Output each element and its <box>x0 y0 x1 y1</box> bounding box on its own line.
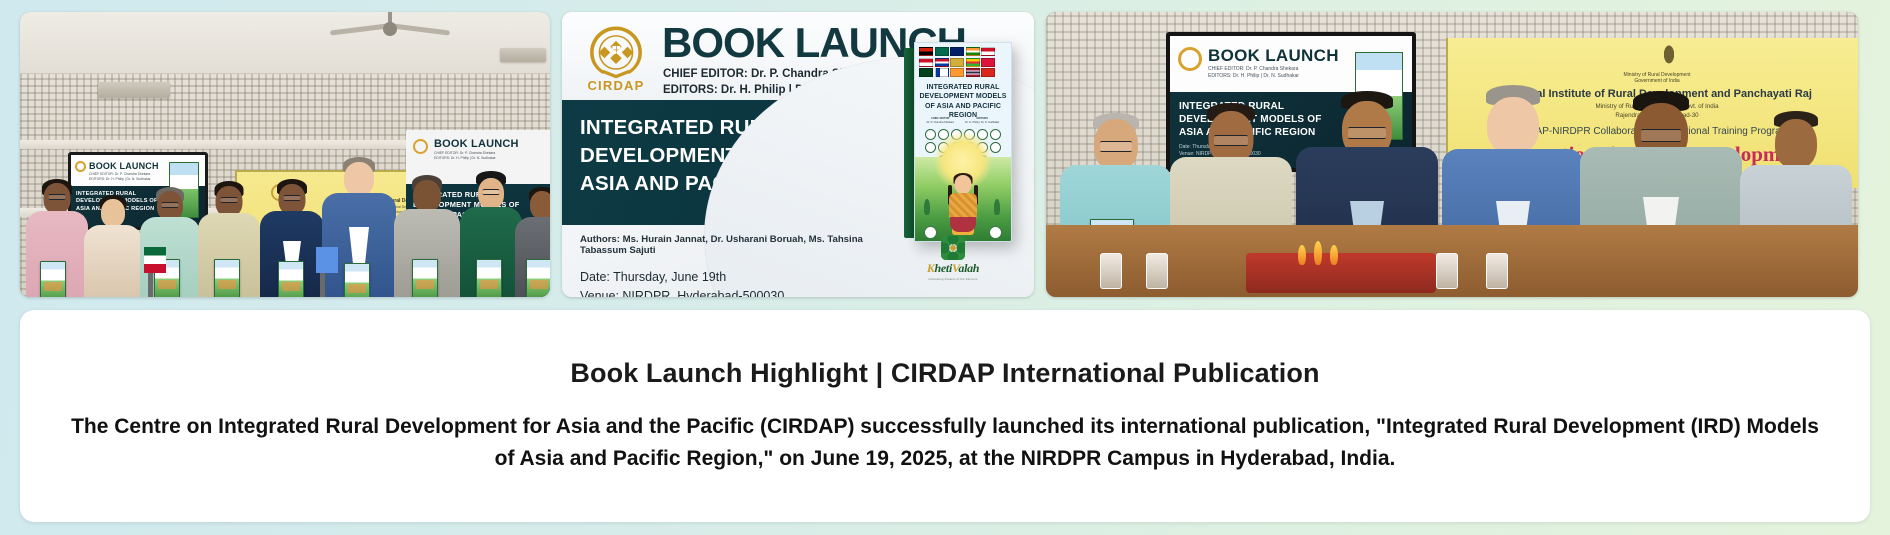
book-editors-name: Dr. H. Philip | Dr. N. Sudhakar <box>965 121 999 124</box>
ceremony-hall-background: BOOK LAUNCH CHIEF EDITOR: Dr. P. Chandra… <box>1046 12 1858 297</box>
cirdap-logo-icon: CIRDAP <box>580 22 652 94</box>
poster-authors: Authors: Ms. Hurain Jannat, Dr. Usharani… <box>580 234 910 256</box>
water-glass <box>1486 253 1508 289</box>
screen-heading: BOOK LAUNCH <box>1208 46 1339 66</box>
cirdap-badge-icon <box>413 139 428 154</box>
caption-body: The Centre on Integrated Rural Developme… <box>66 411 1824 475</box>
book-chief-editor-label: CHIEF EDITOR <box>931 117 949 120</box>
flag <box>144 247 166 273</box>
ceiling <box>20 12 550 74</box>
khetivalah-mark-icon <box>941 236 965 260</box>
attendee <box>24 177 90 297</box>
caption-panel: Book Launch Highlight | CIRDAP Internati… <box>20 310 1870 522</box>
khetivalah-tagline: Cultivating Dreams of the Farmers <box>914 277 992 281</box>
standee-heading: BOOK LAUNCH <box>434 138 519 150</box>
india-emblem-icon <box>1660 44 1678 70</box>
media-strip: BOOK LAUNCH CHIEF EDITOR: Dr. P. Chandra… <box>20 12 1870 297</box>
lamp-flame-icon <box>1298 245 1306 265</box>
book-illustration <box>915 157 1011 241</box>
attendee-chief-guest <box>320 157 398 297</box>
conference-hall-background: BOOK LAUNCH CHIEF EDITOR: Dr. P. Chandra… <box>20 12 550 297</box>
poster-details: Authors: Ms. Hurain Jannat, Dr. Usharani… <box>580 234 910 297</box>
cirdap-badge-icon <box>1178 47 1202 71</box>
water-glass <box>1436 253 1458 289</box>
lamp-flame-icon <box>1314 241 1322 265</box>
lamp-flame-icon <box>1330 245 1338 265</box>
water-glass <box>1146 253 1168 289</box>
right-photo-card[interactable]: BOOK LAUNCH CHIEF EDITOR: Dr. P. Chandra… <box>1046 12 1858 297</box>
air-vent <box>500 48 546 62</box>
book-front-cover: INTEGRATED RURAL DEVELOPMENT MODELS OF A… <box>914 42 1012 242</box>
book-editor-credits: CHIEF EDITOR Dr. P. Chandra Shekara EDIT… <box>921 117 1005 124</box>
book-editors-label: EDITORS <box>976 117 987 120</box>
screen-sub: CHIEF EDITOR: Dr. P. Chandra Shekara EDI… <box>1208 66 1299 79</box>
book-3d-mockup: INTEGRATED RURAL DEVELOPMENT MODELS OF A… <box>904 42 1012 242</box>
country-flags-row <box>919 47 1007 77</box>
attendee <box>258 179 326 297</box>
poster-date: Date: Thursday, June 19th <box>580 270 910 284</box>
poster: CIRDAP BOOK LAUNCH CHIEF EDITOR: Dr. P. … <box>562 12 1034 297</box>
ceiling-fan-icon <box>330 16 450 42</box>
water-glass <box>1100 253 1122 289</box>
poster-venue: Venue: NIRDPR, Hyderabad-500030 <box>580 289 910 297</box>
attendee <box>196 181 262 297</box>
flag <box>316 247 338 273</box>
air-vent <box>98 82 170 98</box>
table-cloth <box>1246 253 1436 293</box>
caption-title: Book Launch Highlight | CIRDAP Internati… <box>570 358 1319 389</box>
khetivalah-logo: KhetiValah Cultivating Dreams of the Far… <box>914 236 992 281</box>
khetivalah-wordmark: KhetiValah <box>914 261 992 276</box>
attendee <box>514 185 550 297</box>
attendee <box>392 175 462 297</box>
attendees-group <box>20 165 550 297</box>
book-chief-editor-name: Dr. P. Chandra Shekara <box>927 121 954 124</box>
book-title: INTEGRATED RURAL DEVELOPMENT MODELS OF A… <box>918 83 1008 121</box>
standee-sub: CHIEF EDITOR: Dr. P. Chandra Shekara EDI… <box>434 151 496 160</box>
attendee <box>82 193 144 297</box>
left-photo-card[interactable]: BOOK LAUNCH CHIEF EDITOR: Dr. P. Chandra… <box>20 12 550 297</box>
tree-icon <box>994 199 1000 215</box>
book-launch-poster-card[interactable]: CIRDAP BOOK LAUNCH CHIEF EDITOR: Dr. P. … <box>562 12 1034 297</box>
tree-icon <box>924 199 930 215</box>
cirdap-wordmark: CIRDAP <box>580 78 652 93</box>
